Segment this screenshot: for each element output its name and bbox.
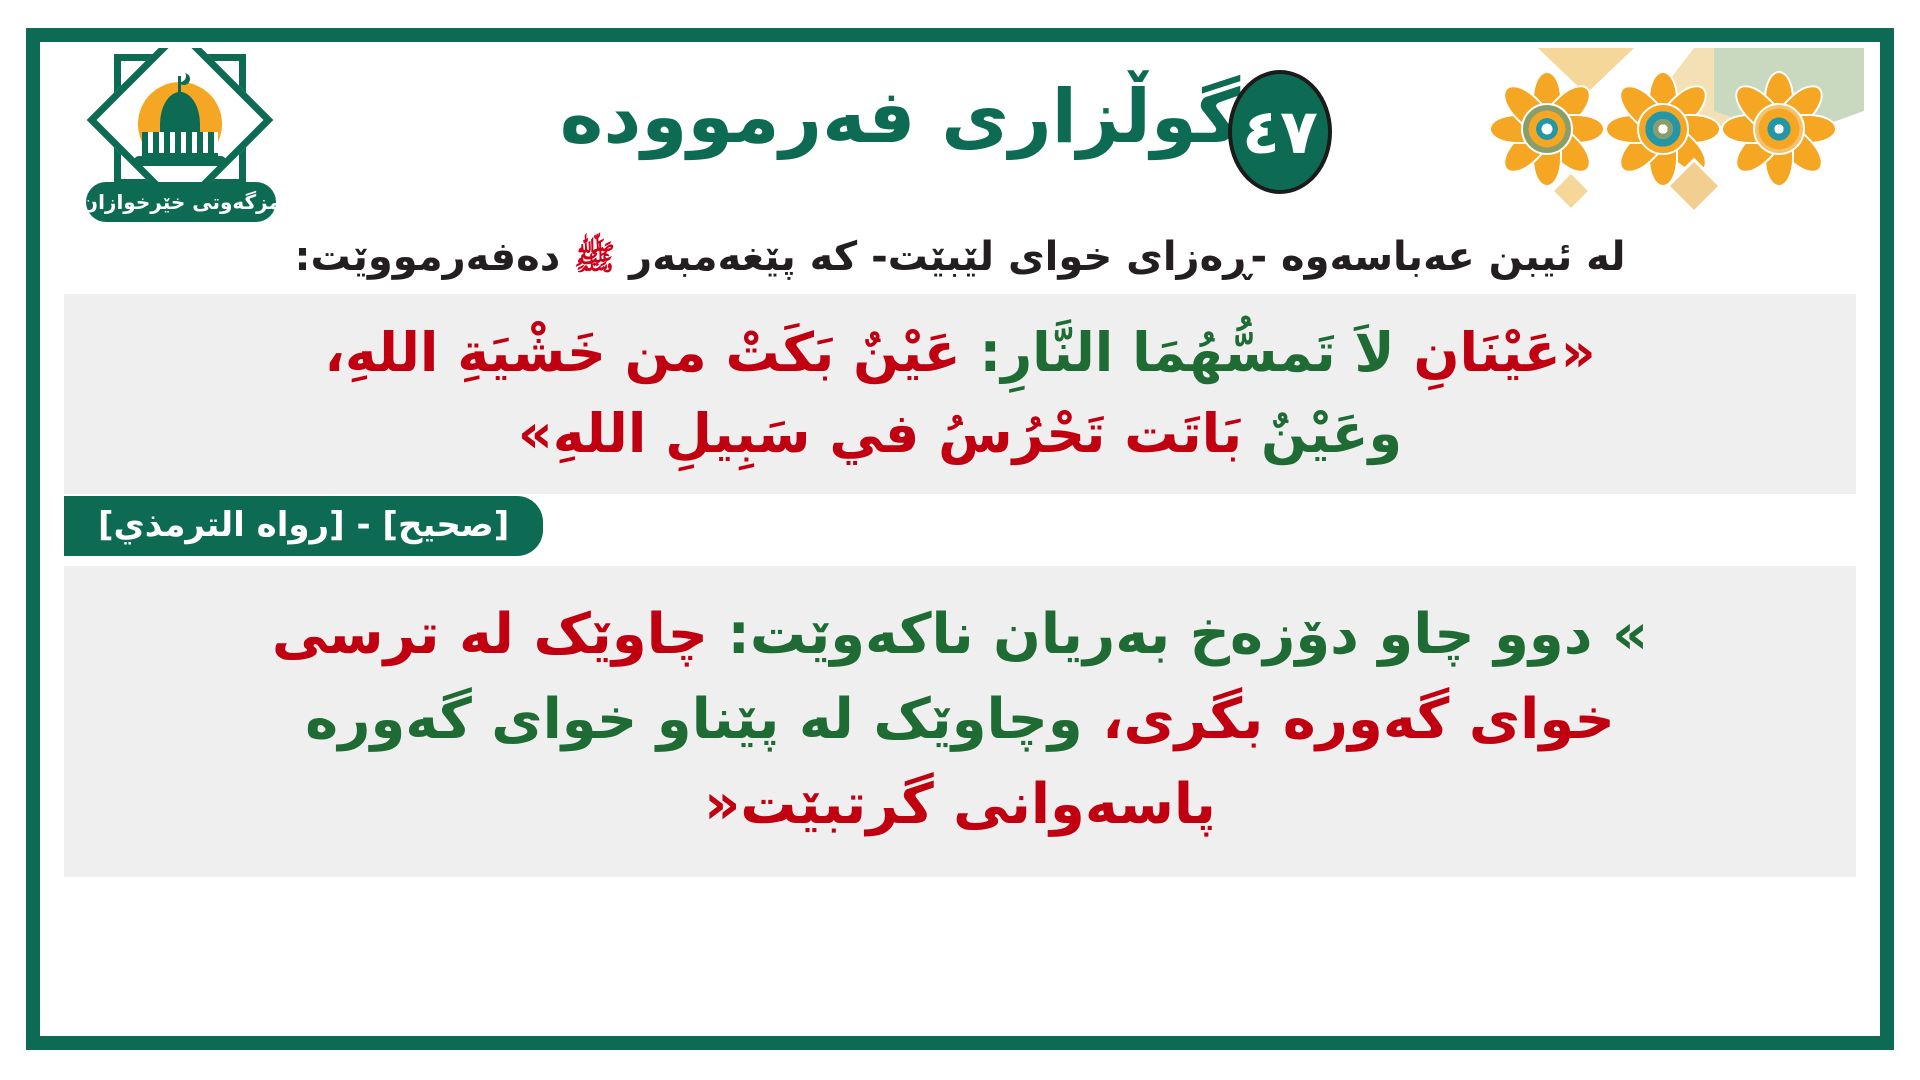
islamic-rosette-ornament <box>1374 48 1874 216</box>
kurdish-line1-red: چاوێک لە ترسی <box>272 602 708 667</box>
kurdish-line3-red: پاسەوانی گرتبێت« <box>704 772 1216 837</box>
arabic-line2-green: وعَیْنٌ <box>1261 402 1402 465</box>
kurdish-translation-block: » دوو چاو دۆزەخ بەریان ناکەوێت: چاوێک لە… <box>64 566 1856 877</box>
arabic-line1-rest: عَیْنٌ بَکَتْ من خَشْیَةِ اللهِ، <box>324 321 960 384</box>
poster-frame-inner: مزگەوتی خێرخوازان گوڵزاری فەرمووده ٤٧ <box>40 42 1880 1036</box>
narrator-text-before: لە ئیبن عەباسەوە -ڕەزای خوای لێبێت- کە پ… <box>629 234 1625 280</box>
kurdish-line-1: » دوو چاو دۆزەخ بەریان ناکەوێت: چاوێک لە… <box>98 592 1822 677</box>
arabic-line1-green: لاَ تَمسُّهُمَا النَّارِ: <box>979 321 1394 384</box>
arabic-line1-open: «عَیْنَانِ <box>1413 321 1595 384</box>
arabic-hadith-line-1: «عَیْنَانِ لاَ تَمسُّهُمَا النَّارِ: عَی… <box>90 312 1830 393</box>
status-badge: [صحيح] - [رواه الترمذي] <box>64 496 543 556</box>
narrator-text-after: دەفەرمووێت: <box>295 234 561 280</box>
arabic-hadith-block: «عَیْنَانِ لاَ تَمسُّهُمَا النَّارِ: عَی… <box>64 294 1856 494</box>
rosette-icon-3 <box>1720 70 1838 188</box>
kurdish-line2-red: خوای گەورە بگری، <box>1102 687 1615 752</box>
kurdish-open-quote: » <box>1612 602 1648 667</box>
kurdish-line2-green: وچاوێک لە پێناو خوای گەورە <box>305 687 1083 752</box>
rosette-icon-1 <box>1488 70 1606 188</box>
arabic-hadith-line-2: وعَیْنٌ بَاتَت تَحْرُسُ في سَبِیلِ اللهِ… <box>90 393 1830 474</box>
kurdish-line-3: پاسەوانی گرتبێت« <box>98 762 1822 847</box>
poster-frame: مزگەوتی خێرخوازان گوڵزاری فەرمووده ٤٧ <box>26 28 1894 1050</box>
narrator-line: لە ئیبن عەباسەوە -ڕەزای خوای لێبێت- کە پ… <box>64 226 1856 294</box>
source-row: [صحيح] - [رواه الترمذي] <box>64 494 1856 560</box>
logo-ribbon-label: مزگەوتی خێرخوازان <box>86 182 276 222</box>
kurdish-line-2: خوای گەورە بگری، وچاوێک لە پێناو خوای گە… <box>98 677 1822 762</box>
salawat-icon: ﷺ <box>574 238 615 278</box>
poster-header: مزگەوتی خێرخوازان گوڵزاری فەرمووده ٤٧ <box>46 48 1874 226</box>
kurdish-line1-green: دوو چاو دۆزەخ بەریان ناکەوێت: <box>728 602 1593 667</box>
hadith-number-badge: ٤٧ <box>1228 70 1332 194</box>
arabic-line2-red: بَاتَت تَحْرُسُ في سَبِیلِ اللهِ» <box>518 402 1242 465</box>
hadith-poster: مزگەوتی خێرخوازان گوڵزاری فەرمووده ٤٧ <box>0 0 1920 1080</box>
